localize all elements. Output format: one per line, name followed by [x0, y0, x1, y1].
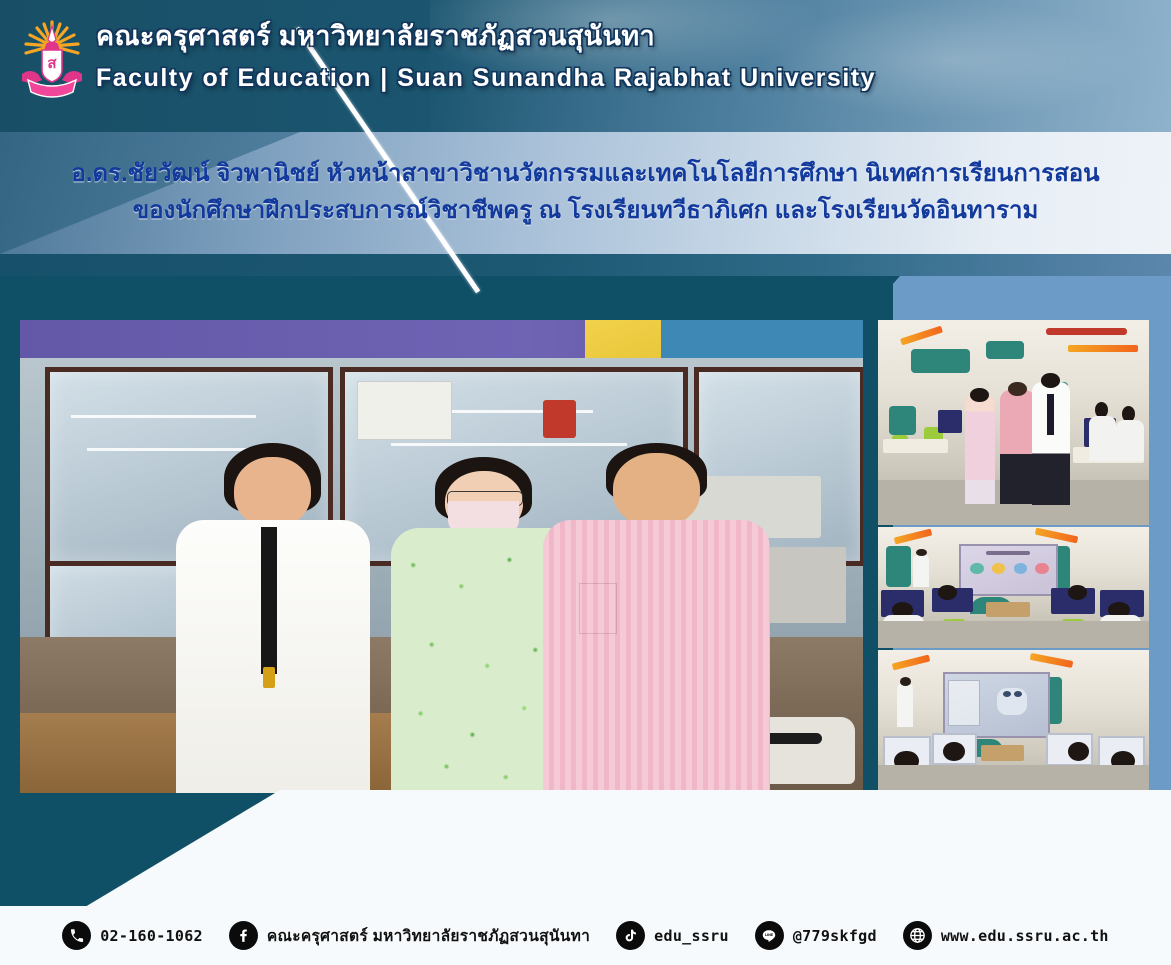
contact-tiktok[interactable]: edu_ssru: [616, 921, 729, 950]
contact-phone-label: 02-160-1062: [100, 927, 203, 945]
main-photo: [20, 320, 863, 793]
facebook-icon: [229, 921, 258, 950]
poster-root: ส คณะครุศาสตร์ มหาวิทยาลัยราชภัฏสวนสุนัน…: [0, 0, 1171, 965]
tiktok-icon: [616, 921, 645, 950]
contact-phone[interactable]: 02-160-1062: [62, 921, 203, 950]
contact-website-label: www.edu.ssru.ac.th: [941, 927, 1109, 945]
contact-tiktok-label: edu_ssru: [654, 927, 729, 945]
footer-contact-bar: 02-160-1062 คณะครุศาสตร์ มหาวิทยาลัยราชภ…: [0, 906, 1171, 965]
svg-text:LINE: LINE: [765, 933, 774, 937]
headline-text: อ.ดร.ชัยวัฒน์ จิวพานิชย์ หัวหน้าสาขาวิชา…: [0, 155, 1171, 229]
globe-icon: [903, 921, 932, 950]
header-brand-text: คณะครุศาสตร์ มหาวิทยาลัยราชภัฏสวนสุนันทา…: [96, 20, 1076, 94]
phone-icon: [62, 921, 91, 950]
headline-line-1: อ.ดร.ชัยวัฒน์ จิวพานิชย์ หัวหน้าสาขาวิชา…: [0, 155, 1171, 192]
thumbnail-photo-2: [878, 527, 1149, 648]
contact-facebook[interactable]: คณะครุศาสตร์ มหาวิทยาลัยราชภัฏสวนสุนันทา: [229, 921, 590, 950]
thumbnail-photo-1: [878, 320, 1149, 525]
header-title-english: Faculty of Education | Suan Sunandha Raj…: [96, 62, 1076, 95]
line-icon: LINE: [755, 921, 784, 950]
ssru-crest-icon: ส: [16, 16, 88, 104]
contact-line-label: @779skfgd: [793, 927, 877, 945]
contact-line[interactable]: LINE @779skfgd: [755, 921, 877, 950]
thumbnail-photo-3: [878, 650, 1149, 798]
contact-website[interactable]: www.edu.ssru.ac.th: [903, 921, 1109, 950]
headline-line-2: ของนักศึกษาฝึกประสบการณ์วิชาชีพครู ณ โรง…: [0, 192, 1171, 229]
header-title-thai: คณะครุศาสตร์ มหาวิทยาลัยราชภัฏสวนสุนันทา: [96, 20, 1076, 54]
contact-facebook-label: คณะครุศาสตร์ มหาวิทยาลัยราชภัฏสวนสุนันทา: [267, 923, 590, 948]
bottom-right-white-fill: [640, 790, 1171, 818]
svg-text:ส: ส: [47, 54, 57, 72]
